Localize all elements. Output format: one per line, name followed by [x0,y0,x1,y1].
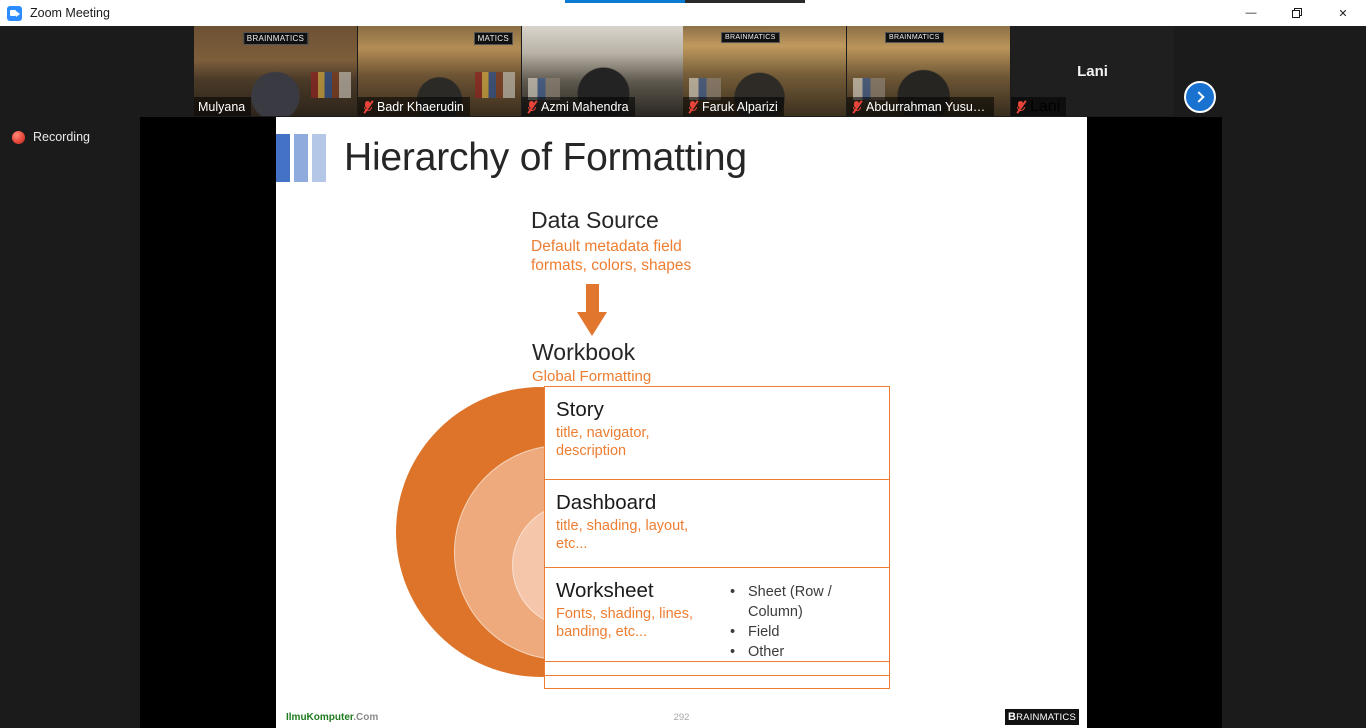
participant-tile-3[interactable]: BRAINMATICS Faruk Alparizi [683,26,846,116]
background-books [475,72,515,98]
chevron-right-icon [1193,91,1204,102]
shared-screen-area[interactable]: Hierarchy of Formatting Data Source Defa… [140,117,1222,728]
participant-name-large: Lani [1077,63,1108,80]
data-source-heading: Data Source [531,207,691,234]
participant-name: Abdurrahman Yusuf I... [866,100,988,114]
background-logo: BRAINMATICS [243,32,308,45]
mic-muted-icon [362,100,373,113]
participant-name-bar: Badr Khaerudin [358,97,470,116]
window-title-bar: Zoom Meeting — ✕ [0,0,1366,26]
list-item: •Other [730,642,889,662]
participant-name: Azmi Mahendra [541,100,629,114]
participant-tile-1[interactable]: MATICS Badr Khaerudin [358,26,521,116]
logo-mid: RAIN [1016,712,1040,723]
data-source-subtext: Default metadata field formats, colors, … [531,237,691,275]
level-heading: Worksheet [556,578,716,603]
participant-name-bar: Abdurrahman Yusuf I... [847,97,994,116]
mic-muted-icon [526,100,537,113]
participant-tile-2[interactable]: Azmi Mahendra [522,26,685,116]
down-arrow-icon [577,284,607,336]
participant-name-bar: Mulyana [194,97,251,116]
recording-label: Recording [33,130,90,144]
restore-icon [1292,8,1303,19]
title-accent-bar-2 [294,134,308,182]
toolbar-strip-dark [685,0,805,3]
logo-prefix: B [1008,711,1016,723]
hierarchy-rows: Story title, navigator, description Dash… [544,386,890,689]
level-subtext: Fonts, shading, lines, banding, etc... [556,605,716,641]
participant-tile-4[interactable]: BRAINMATICS Abdurrahman Yusuf I... [847,26,1010,116]
recording-indicator[interactable]: Recording [12,130,90,144]
restore-button[interactable] [1274,0,1320,26]
level-subtext: title, navigator, description [556,424,716,460]
zoom-video-icon [7,6,22,21]
participant-name: Badr Khaerudin [377,100,464,114]
data-source-block: Data Source Default metadata field forma… [531,207,691,275]
list-item: •Field [730,622,889,642]
slide-title-row: Hierarchy of Formatting [276,134,747,182]
level-subtext: title, shading, layout, etc... [556,517,716,553]
background-logo: BRAINMATICS [885,32,944,43]
hierarchy-row-story: Story title, navigator, description [544,386,890,479]
bullet-text: Sheet (Row / Column) [748,582,889,622]
participant-name: Lani [1030,98,1060,116]
level-heading: Dashboard [556,490,716,515]
participant-name-bar: Lani [1011,97,1066,116]
list-item: •Sheet (Row / Column) [730,582,889,622]
level-heading: Story [556,397,716,422]
slide-title: Hierarchy of Formatting [344,136,747,180]
participant-name-bar: Faruk Alparizi [683,97,784,116]
minimize-button[interactable]: — [1228,0,1274,26]
workbook-block: Workbook Global Formatting [532,339,651,385]
brainmatics-logo: BRAINMATICS [1005,709,1079,725]
background-books [311,72,351,98]
hierarchy-row-empty-1 [544,661,890,675]
background-logo: MATICS [474,32,513,45]
toolbar-strip-blue [565,0,685,3]
bullet-text: Other [748,642,784,662]
slide-page-number: 292 [276,712,1087,723]
next-page-button[interactable] [1184,81,1216,113]
hierarchy-row-empty-2 [544,675,890,689]
participant-name: Mulyana [198,100,245,114]
worksheet-bullet-list: •Sheet (Row / Column) •Field •Other [730,578,889,662]
workbook-heading: Workbook [532,339,651,366]
participant-name-bar: Azmi Mahendra [522,97,635,116]
participant-name: Faruk Alparizi [702,100,778,114]
mic-muted-icon [1015,100,1026,113]
mic-muted-icon [687,100,698,113]
recording-dot-icon [12,131,25,144]
window-title: Zoom Meeting [30,6,110,20]
hierarchy-row-dashboard: Dashboard title, shading, layout, etc... [544,479,890,567]
mic-muted-icon [851,100,862,113]
top-toolbar-strip [565,0,805,3]
title-accent-bar-3 [312,134,326,182]
window-controls: — ✕ [1228,0,1366,26]
participant-tile-5[interactable]: Lani Lani [1011,26,1174,116]
participant-gallery-strip: BRAINMATICS Mulyana MATICS Badr Khaerudi… [0,26,1366,120]
bullet-text: Field [748,622,779,642]
title-accent-bar-1 [276,134,290,182]
close-button[interactable]: ✕ [1320,0,1366,26]
participant-tile-0[interactable]: BRAINMATICS Mulyana [194,26,357,116]
background-logo: BRAINMATICS [721,32,780,43]
workbook-subtext: Global Formatting [532,368,651,385]
hierarchy-row-worksheet: Worksheet Fonts, shading, lines, banding… [544,567,890,661]
logo-suffix: MATICS [1040,712,1076,723]
presentation-slide: Hierarchy of Formatting Data Source Defa… [276,117,1087,728]
